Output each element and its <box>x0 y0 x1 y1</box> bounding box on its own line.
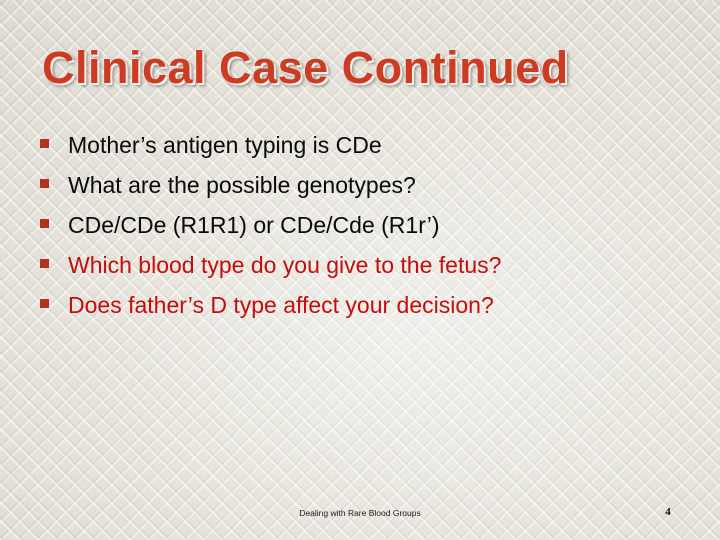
list-item[interactable]: Does father’s D type affect your decisio… <box>40 290 680 330</box>
bullet-item-label: CDe/CDe (R1R1) or CDe/Cde (R1r’) <box>68 210 439 240</box>
bullet-square-icon <box>40 299 49 308</box>
presentation-slide: Clinical Case Continued Mother’s antigen… <box>0 0 720 540</box>
slide-footer-note: Dealing with Rare Blood Groups <box>0 508 720 518</box>
bullet-square-icon <box>40 219 49 228</box>
bullet-item-label: What are the possible genotypes? <box>68 170 416 200</box>
bullet-item-label: Does father’s D type affect your decisio… <box>68 290 494 320</box>
list-item[interactable]: What are the possible genotypes? <box>40 170 680 210</box>
bullet-square-icon <box>40 259 49 268</box>
slide-title: Clinical Case Continued <box>42 40 682 96</box>
list-item[interactable]: CDe/CDe (R1R1) or CDe/Cde (R1r’) <box>40 210 680 250</box>
list-item[interactable]: Mother’s antigen typing is CDe <box>40 130 680 170</box>
bullet-item-label: Which blood type do you give to the fetu… <box>68 250 501 280</box>
bullet-list: Mother’s antigen typing is CDe What are … <box>40 130 680 330</box>
bullet-square-icon <box>40 179 49 188</box>
list-item[interactable]: Which blood type do you give to the fetu… <box>40 250 680 290</box>
bullet-item-label: Mother’s antigen typing is CDe <box>68 130 382 160</box>
slide-page-number: 4 <box>648 506 688 518</box>
bullet-square-icon <box>40 139 49 148</box>
